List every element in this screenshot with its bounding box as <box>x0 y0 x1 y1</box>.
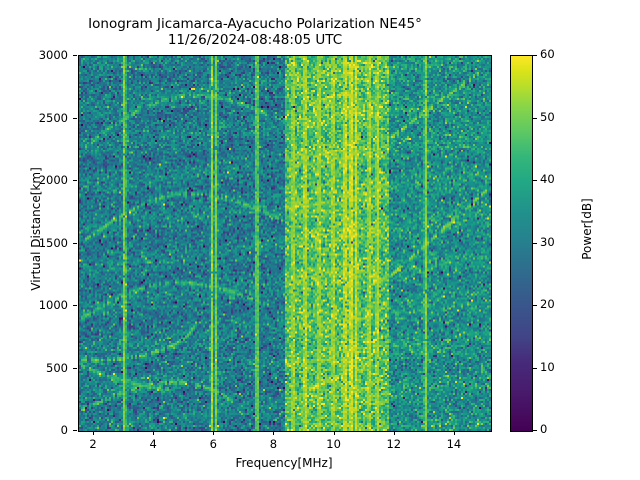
colorbar-tick-label: 30 <box>540 235 555 249</box>
x-tick <box>334 431 335 435</box>
y-axis-label: Virtual Distance[km] <box>29 129 43 329</box>
colorbar-tick-label: 60 <box>540 47 555 61</box>
x-tick <box>213 431 214 435</box>
title-line-2: 11/26/2024-08:48:05 UTC <box>0 32 510 48</box>
x-tick-label: 12 <box>374 437 414 451</box>
y-tick <box>73 430 77 431</box>
y-tick <box>73 243 77 244</box>
y-tick <box>73 55 77 56</box>
y-tick <box>73 305 77 306</box>
plot-area <box>78 55 492 432</box>
colorbar-tick <box>532 180 537 181</box>
x-axis-label: Frequency[MHz] <box>78 456 490 470</box>
heatmap-image <box>79 56 491 431</box>
x-tick <box>273 431 274 435</box>
colorbar-tick-label: 50 <box>540 110 555 124</box>
y-tick-label: 1500 <box>18 236 68 250</box>
colorbar-label: Power[dB] <box>580 129 594 329</box>
x-tick-label: 4 <box>133 437 173 451</box>
y-tick-label: 500 <box>18 361 68 375</box>
colorbar-tick <box>532 243 537 244</box>
x-tick <box>394 431 395 435</box>
x-tick <box>93 431 94 435</box>
title-line-1: Ionogram Jicamarca-Ayacucho Polarization… <box>0 16 510 32</box>
x-tick-label: 8 <box>253 437 293 451</box>
y-tick <box>73 368 77 369</box>
colorbar-tick <box>532 368 537 369</box>
colorbar-tick-label: 10 <box>540 360 555 374</box>
colorbar-tick <box>532 305 537 306</box>
y-tick <box>73 118 77 119</box>
y-tick-label: 0 <box>18 423 68 437</box>
x-tick <box>153 431 154 435</box>
colorbar-tick <box>532 430 537 431</box>
y-tick <box>73 180 77 181</box>
ionogram-figure: Ionogram Jicamarca-Ayacucho Polarization… <box>0 0 640 480</box>
colorbar <box>510 55 533 432</box>
y-tick-label: 2500 <box>18 111 68 125</box>
x-tick-label: 2 <box>73 437 113 451</box>
colorbar-tick-label: 20 <box>540 297 555 311</box>
x-tick <box>454 431 455 435</box>
colorbar-tick-label: 40 <box>540 172 555 186</box>
y-tick-label: 2000 <box>18 173 68 187</box>
figure-title: Ionogram Jicamarca-Ayacucho Polarization… <box>0 16 510 48</box>
ionogram-canvas <box>79 56 491 431</box>
colorbar-tick <box>532 118 537 119</box>
x-tick-label: 6 <box>193 437 233 451</box>
y-tick-label: 1000 <box>18 298 68 312</box>
colorbar-tick-label: 0 <box>540 422 547 436</box>
x-tick-label: 10 <box>314 437 354 451</box>
y-tick-label: 3000 <box>18 48 68 62</box>
colorbar-tick <box>532 55 537 56</box>
x-tick-label: 14 <box>434 437 474 451</box>
